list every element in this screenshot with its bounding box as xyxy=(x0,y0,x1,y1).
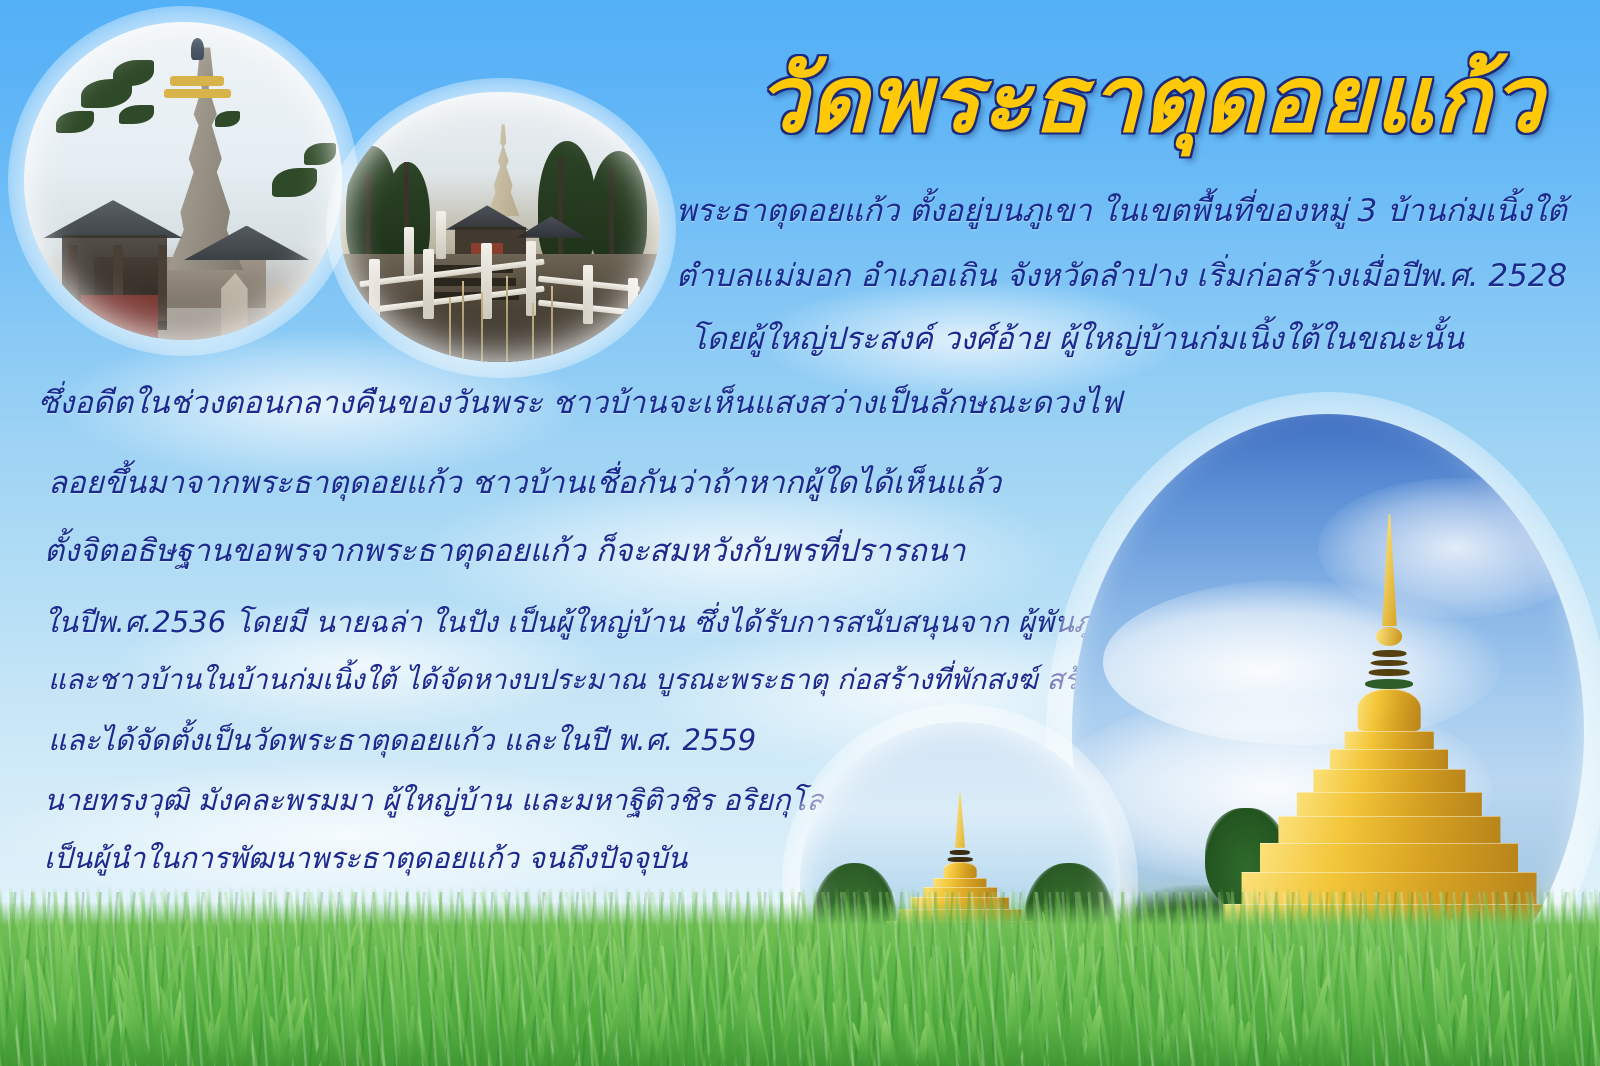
text-line: ตั้งจิตอธิษฐานขอพรจากพระธาตุดอยแก้ว ก็จะ… xyxy=(44,536,965,567)
text-line: ซึ่งอดีตในช่วงตอนกลางคืนของวันพระ ชาวบ้า… xyxy=(38,388,1122,419)
text-line: โดยผู้ใหญ่ประสงค์ วงศ์อ้าย ผู้ใหญ่บ้านก่… xyxy=(690,324,1464,355)
text-line: ตำบลแม่มอก อำเภอเถิน จังหวัดลำปาง เริ่มก… xyxy=(676,261,1567,292)
photo-hilltop-stairway xyxy=(340,92,660,362)
text-line: นายทรงวุฒิ มังคละพรมมา ผู้ใหญ่บ้าน และมห… xyxy=(44,786,824,815)
text-line: เป็นผู้นำในการพัฒนาพระธาตุดอยแก้ว จนถึงป… xyxy=(44,844,687,873)
grass-blade xyxy=(96,1014,118,1066)
page-title: วัดพระธาตุดอยแก้ว xyxy=(800,30,1500,170)
text-line: และชาวบ้านในบ้านก่มเนิ้งใต้ ได้จัดหางบปร… xyxy=(48,666,1173,694)
grass-blade xyxy=(1490,989,1514,1066)
grass-blade xyxy=(683,932,688,1066)
grass-blade xyxy=(964,930,994,1066)
grass-field xyxy=(0,886,1600,1066)
text-line: ลอยขึ้นมาจากพระธาตุดอยแก้ว ชาวบ้านเชื่อก… xyxy=(48,468,1001,499)
grass-blade xyxy=(483,931,495,1066)
poster-root: วัดพระธาตุดอยแก้ว พระธาตุดอยแก้ว ตั้งอยู… xyxy=(0,0,1600,1066)
text-line: และได้จัดตั้งเป็นวัดพระธาตุดอยแก้ว และใน… xyxy=(48,726,756,755)
photo-old-stone-chedi xyxy=(24,22,342,340)
grass-blade xyxy=(880,1021,891,1066)
grass-blade xyxy=(693,953,709,1066)
text-line: พระธาตุดอยแก้ว ตั้งอยู่บนภูเขา ในเขตพื้น… xyxy=(676,196,1567,227)
grass-blade xyxy=(1518,940,1548,1066)
